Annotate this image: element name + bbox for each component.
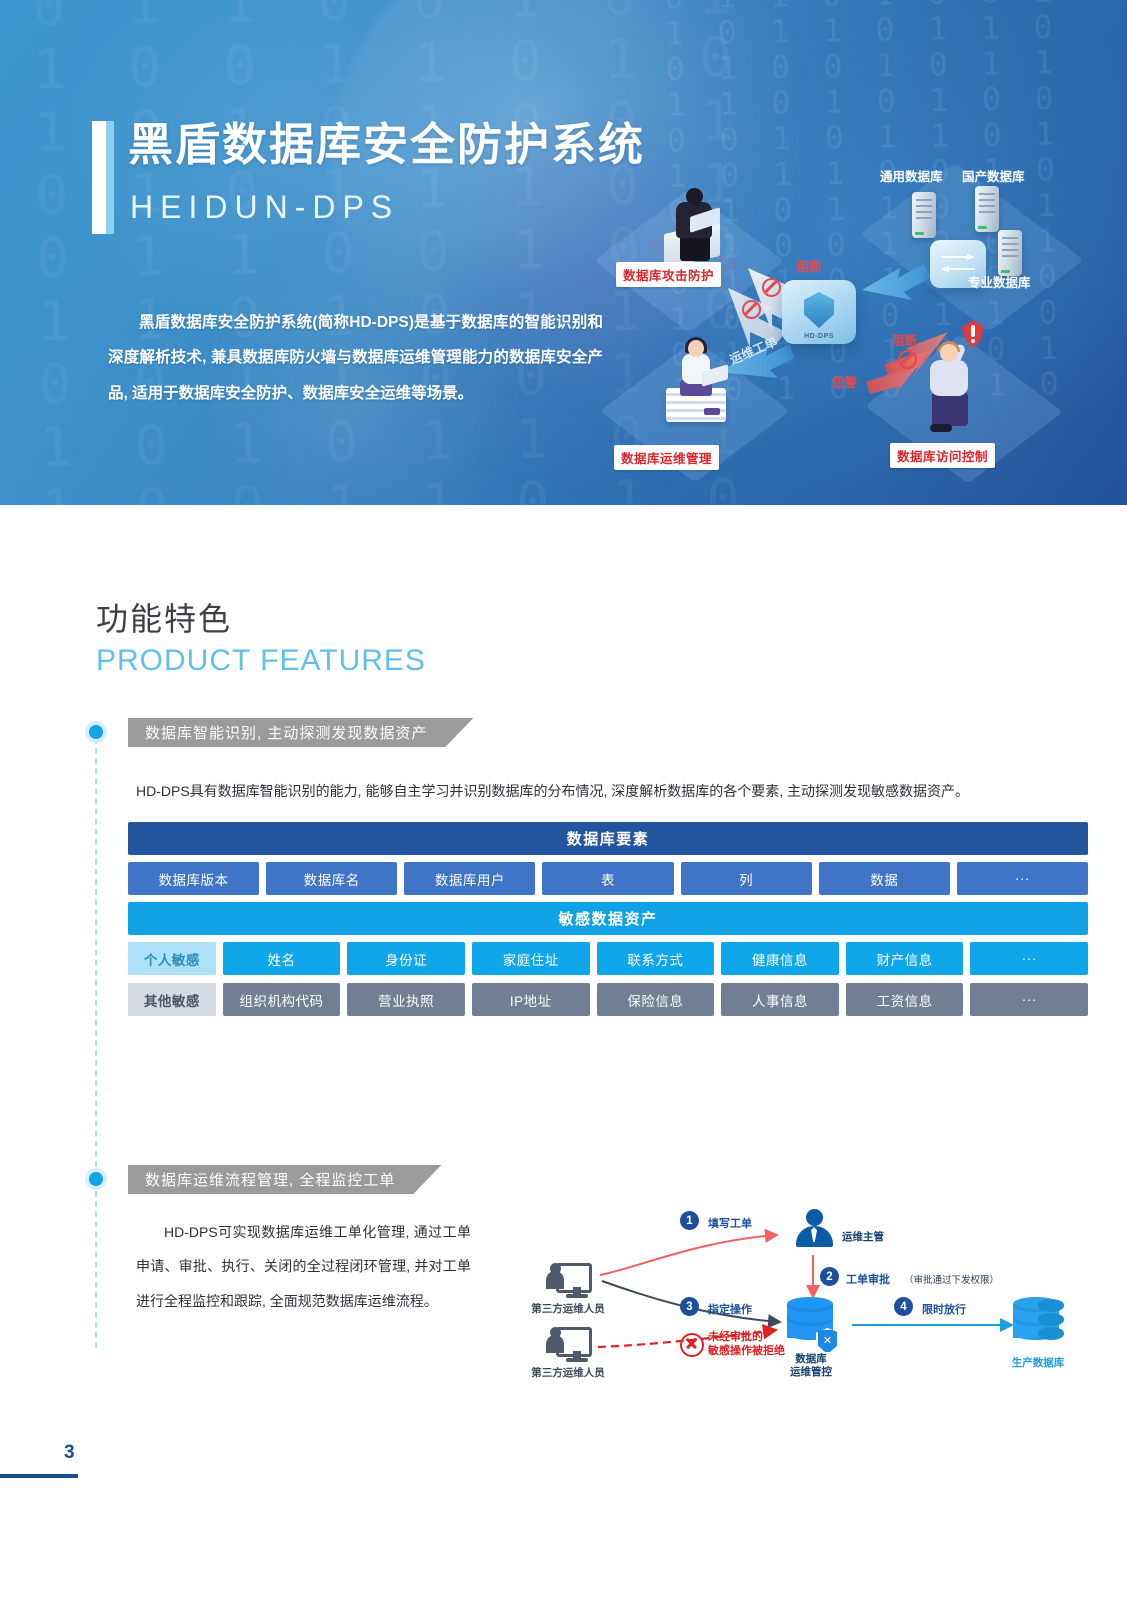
- cell-column: 列: [681, 862, 812, 895]
- title-accent-bar: [92, 121, 114, 234]
- data-asset-table: 数据库要素 数据库版本 数据库名 数据库用户 表 列 数据 ··· 敏感数据资产…: [128, 822, 1088, 1016]
- feature-2-ribbon: 数据库运维流程管理, 全程监控工单: [128, 1165, 441, 1194]
- feature-1-ribbon-label: 数据库智能识别, 主动探测发现数据资产: [145, 722, 427, 743]
- timeline-dot-feature-2: [85, 1168, 107, 1190]
- cell-table: 表: [542, 862, 673, 895]
- hd-dps-core-icon: HD-DPS: [782, 280, 856, 344]
- cell-db-name: 数据库名: [266, 862, 397, 895]
- denied-label-line1: 未经审批的: [708, 1330, 763, 1345]
- step-4-label: 限时放行: [922, 1301, 966, 1317]
- db-ops-control-icon: [784, 1297, 838, 1353]
- label-alarm: 告警: [832, 372, 857, 391]
- feature-1-ribbon: 数据库智能识别, 主动探测发现数据资产: [128, 718, 473, 747]
- third-party-ops-icon-1: [546, 1263, 592, 1299]
- hero-description: 黑盾数据库安全防护系统(简称HD-DPS)是基于数据库的智能识别和深度解析技术,…: [108, 305, 603, 411]
- tag-attack-protection: 数据库攻击防护: [616, 262, 721, 287]
- label-professional-db: 专业数据库: [968, 272, 1031, 291]
- cell-contact: 联系方式: [597, 942, 715, 975]
- unauthorized-user-figure: [918, 328, 990, 438]
- tag-ops-management: 数据库运维管理: [614, 445, 719, 470]
- label-general-db: 通用数据库: [880, 166, 943, 185]
- timeline-dot-feature-1: [85, 721, 107, 743]
- feature-2-body: HD-DPS可实现数据库运维工单化管理, 通过工单申请、审批、执行、关闭的全过程…: [136, 1215, 471, 1318]
- cell-name: 姓名: [223, 942, 341, 975]
- server-icon-domestic: [975, 186, 999, 232]
- table-row-other-sensitive: 其他敏感 组织机构代码 营业执照 IP地址 保险信息 人事信息 工资信息 ···: [128, 983, 1088, 1016]
- page-number: 3: [64, 1442, 75, 1464]
- third-party-ops-label-1: 第三方运维人员: [512, 1303, 624, 1317]
- feature-1-body: HD-DPS具有数据库智能识别的能力, 能够自主学习并识别数据库的分布情况, 深…: [136, 778, 1036, 805]
- block-icon-3: [898, 350, 917, 369]
- cell-property-info: 财产信息: [846, 942, 964, 975]
- cell-db-version: 数据库版本: [128, 862, 259, 895]
- step-3-label: 指定操作: [708, 1301, 752, 1317]
- db-ops-control-label-line2: 运维管控: [770, 1366, 852, 1380]
- step-4-badge: 4: [894, 1297, 913, 1316]
- cell-other-label: 其他敏感: [128, 983, 216, 1016]
- ops-supervisor-icon: [794, 1209, 834, 1247]
- brochure-page: 1 0 1 1 0 0 1 0 1 0 1 0 0 1 1 0 1 0 1 1 …: [0, 0, 1127, 1600]
- step-1-badge: 1: [680, 1211, 699, 1230]
- table-row-elements: 数据库版本 数据库名 数据库用户 表 列 数据 ···: [128, 862, 1088, 895]
- production-db-label: 生产数据库: [990, 1357, 1086, 1371]
- cell-org-code: 组织机构代码: [223, 983, 341, 1016]
- server-icon-professional: [998, 230, 1022, 276]
- cell-personal-label: 个人敏感: [128, 942, 216, 975]
- denied-label-line2: 敏感操作被拒绝: [708, 1344, 785, 1359]
- cell-business-license: 营业执照: [347, 983, 465, 1016]
- footer-rule: [0, 1474, 78, 1478]
- table-row-personal-sensitive: 个人敏感 姓名 身份证 家庭住址 联系方式 健康信息 财产信息 ···: [128, 942, 1088, 975]
- table-header-sensitive: 敏感数据资产: [128, 902, 1088, 935]
- ops-supervisor-label: 运维主管: [842, 1231, 884, 1245]
- workflow-diagram: 第三方运维人员 第三方运维人员 运维主管 数据库 运维管控 生产数据库 1 填写…: [512, 1175, 1092, 1360]
- cell-hr-info: 人事信息: [721, 983, 839, 1016]
- step-2-badge: 2: [820, 1267, 839, 1286]
- label-block-right: 阻断: [892, 330, 917, 349]
- block-icon-1: [762, 278, 781, 297]
- server-icon-general: [912, 192, 936, 238]
- cell-data: 数据: [819, 862, 950, 895]
- step-3-badge: 3: [680, 1297, 699, 1316]
- cell-more-personal: ···: [970, 942, 1088, 975]
- hero-banner: 1 0 1 1 0 0 1 0 1 0 1 0 0 1 1 0 1 0 1 1 …: [0, 0, 1127, 505]
- cell-health-info: 健康信息: [721, 942, 839, 975]
- feature-2-ribbon-label: 数据库运维流程管理, 全程监控工单: [145, 1169, 395, 1190]
- section-title-en: PRODUCT FEATURES: [96, 641, 426, 680]
- step-2-label: 工单审批: [846, 1271, 890, 1287]
- page-title: 黑盾数据库安全防护系统: [128, 117, 645, 173]
- table-header-elements: 数据库要素: [128, 822, 1088, 855]
- label-block-top: 阻断: [797, 256, 822, 275]
- page-subtitle: HEIDUN-DPS: [130, 187, 399, 229]
- cell-ip-address: IP地址: [472, 983, 590, 1016]
- core-label: HD-DPS: [782, 333, 856, 340]
- cell-id-card: 身份证: [347, 942, 465, 975]
- feature-timeline-line: [95, 728, 99, 1348]
- section-heading: 功能特色 PRODUCT FEATURES: [96, 598, 426, 680]
- block-icon-2: [742, 300, 761, 319]
- step-1-label: 填写工单: [708, 1215, 752, 1231]
- third-party-ops-label-2: 第三方运维人员: [512, 1367, 624, 1381]
- cell-insurance-info: 保险信息: [597, 983, 715, 1016]
- production-db-icon: [1010, 1297, 1064, 1353]
- cell-more-elements: ···: [957, 862, 1088, 895]
- cell-salary-info: 工资信息: [846, 983, 964, 1016]
- section-title-cn: 功能特色: [96, 598, 426, 641]
- hacker-figure: [662, 188, 732, 268]
- step-2-note: （审批通过下发权限）: [904, 1272, 999, 1286]
- cell-home-address: 家庭住址: [472, 942, 590, 975]
- tag-access-control: 数据库访问控制: [890, 443, 995, 468]
- cell-more-other: ···: [970, 983, 1088, 1016]
- cell-db-user: 数据库用户: [404, 862, 535, 895]
- third-party-ops-icon-2: [546, 1327, 592, 1363]
- hero-illustration: HD-DPS 通用数据库: [600, 150, 1100, 480]
- label-domestic-db: 国产数据库: [962, 166, 1025, 185]
- denied-icon: [680, 1333, 704, 1357]
